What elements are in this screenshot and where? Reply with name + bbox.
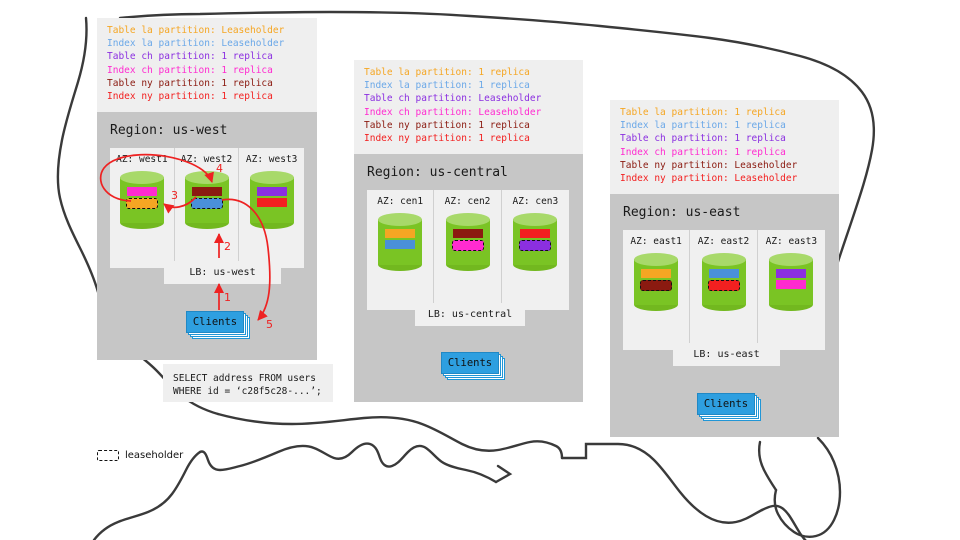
load-balancer-us-central[interactable]: LB: us-central (415, 303, 525, 326)
replica-bar (127, 187, 157, 196)
replica-bars (513, 229, 557, 251)
replica-bar (709, 269, 739, 278)
az-cell-cen2[interactable]: AZ: cen2 (434, 190, 501, 310)
replica-bar (257, 187, 287, 196)
replica-bars (120, 187, 164, 209)
partition-legend-us-east: Table la partition: 1 replica Index la p… (610, 100, 839, 194)
legend-line: Table ny partition: Leaseholder (620, 159, 831, 172)
load-balancer-us-east[interactable]: LB: us-east (673, 343, 780, 366)
az-label: AZ: east3 (766, 236, 817, 247)
az-label: AZ: cen2 (445, 196, 491, 207)
replica-bars (769, 269, 813, 289)
replica-bars (250, 187, 294, 207)
leaseholder-legend-label: leaseholder (125, 450, 183, 461)
cylinder-top (378, 213, 422, 226)
leaseholder-legend-key: leaseholder (97, 450, 183, 461)
legend-line: Index la partition: 1 replica (364, 79, 575, 92)
az-cell-west1[interactable]: AZ: west1 (110, 148, 175, 268)
replica-bars (634, 269, 678, 291)
cylinder-top (446, 213, 490, 226)
az-cell-west3[interactable]: AZ: west3 (239, 148, 304, 268)
legend-line: Index la partition: 1 replica (620, 119, 831, 132)
replica-bars (378, 229, 422, 249)
az-row-us-east: AZ: east1 AZ: east2 (623, 230, 825, 350)
partition-legend-us-west: Table la partition: Leaseholder Index la… (97, 18, 317, 112)
az-row-us-west: AZ: west1 AZ: west2 (110, 148, 304, 268)
region-title: Region: us-west (97, 112, 317, 138)
legend-line: Index ny partition: 1 replica (107, 90, 309, 103)
replica-bar (776, 280, 806, 289)
dashed-rect-icon (97, 450, 119, 461)
replica-bar (257, 198, 287, 207)
az-label: AZ: cen1 (377, 196, 423, 207)
region-cluster-us-west: Table la partition: Leaseholder Index la… (97, 18, 317, 360)
replica-bar (385, 240, 415, 249)
replica-bars (446, 229, 490, 251)
legend-line: Table la partition: 1 replica (620, 106, 831, 119)
region-cluster-us-central: Table la partition: 1 replica Index la p… (354, 60, 583, 402)
replica-bars (702, 269, 746, 291)
arrow-step-3-label: 3 (171, 189, 178, 202)
legend-line: Index ch partition: 1 replica (620, 146, 831, 159)
az-cell-east1[interactable]: AZ: east1 (623, 230, 690, 350)
replica-bar (453, 229, 483, 238)
replica-bar (385, 229, 415, 238)
arrow-step-4-label: 4 (216, 162, 223, 175)
az-cell-east2[interactable]: AZ: east2 (690, 230, 757, 350)
region-cluster-us-east: Table la partition: 1 replica Index la p… (610, 100, 839, 437)
clients-label[interactable]: Clients (186, 311, 244, 333)
legend-line: Index ch partition: 1 replica (107, 64, 309, 77)
node-cylinder-west1[interactable] (120, 171, 164, 229)
replica-bar-leaseholder (640, 280, 672, 291)
clients-us-west[interactable]: Clients (186, 311, 252, 340)
partition-legend-us-central: Table la partition: 1 replica Index la p… (354, 60, 583, 154)
replica-bar-leaseholder (191, 198, 223, 209)
az-label: AZ: east2 (698, 236, 749, 247)
region-title: Region: us-central (354, 154, 583, 180)
clients-us-east[interactable]: Clients (697, 393, 763, 422)
node-cylinder-east1[interactable] (634, 253, 678, 311)
az-label: AZ: west3 (246, 154, 297, 165)
node-cylinder-east3[interactable] (769, 253, 813, 311)
sql-query-box: SELECT address FROM users WHERE id = ‘c2… (163, 364, 333, 402)
replica-bar (776, 269, 806, 278)
clients-label[interactable]: Clients (441, 352, 499, 374)
az-row-us-central: AZ: cen1 AZ: cen2 (367, 190, 569, 310)
az-label: AZ: cen3 (512, 196, 558, 207)
node-cylinder-cen1[interactable] (378, 213, 422, 271)
replica-bar (192, 187, 222, 196)
replica-bar-leaseholder (126, 198, 158, 209)
legend-line: Table la partition: Leaseholder (107, 24, 309, 37)
az-label: AZ: east1 (630, 236, 681, 247)
region-title: Region: us-east (610, 194, 839, 220)
cylinder-top (702, 253, 746, 266)
az-cell-cen1[interactable]: AZ: cen1 (367, 190, 434, 310)
node-cylinder-west3[interactable] (250, 171, 294, 229)
legend-line: Index ny partition: 1 replica (364, 132, 575, 145)
arrow-step-2-label: 2 (224, 240, 231, 253)
replica-bar-leaseholder (708, 280, 740, 291)
replica-bar (641, 269, 671, 278)
node-cylinder-cen2[interactable] (446, 213, 490, 271)
az-label: AZ: west2 (181, 154, 232, 165)
az-cell-east3[interactable]: AZ: east3 (758, 230, 825, 350)
clients-us-central[interactable]: Clients (441, 352, 507, 381)
legend-line: Table ch partition: 1 replica (620, 132, 831, 145)
legend-line: Index ch partition: Leaseholder (364, 106, 575, 119)
cylinder-top (634, 253, 678, 266)
legend-line: Table ny partition: 1 replica (107, 77, 309, 90)
replica-bars (185, 187, 229, 209)
legend-line: Table ny partition: 1 replica (364, 119, 575, 132)
node-cylinder-cen3[interactable] (513, 213, 557, 271)
diagram-canvas: Table la partition: Leaseholder Index la… (0, 0, 960, 540)
cylinder-top (250, 171, 294, 184)
node-cylinder-east2[interactable] (702, 253, 746, 311)
cylinder-top (120, 171, 164, 184)
az-cell-cen3[interactable]: AZ: cen3 (502, 190, 569, 310)
replica-bar (520, 229, 550, 238)
legend-line: Table ch partition: Leaseholder (364, 92, 575, 105)
clients-label[interactable]: Clients (697, 393, 755, 415)
legend-line: Table la partition: 1 replica (364, 66, 575, 79)
replica-bar-leaseholder (452, 240, 484, 251)
load-balancer-us-west[interactable]: LB: us-west (164, 261, 281, 284)
legend-line: Table ch partition: 1 replica (107, 50, 309, 63)
az-label: AZ: west1 (116, 154, 167, 165)
replica-bar-leaseholder (519, 240, 551, 251)
legend-line: Index ny partition: Leaseholder (620, 172, 831, 185)
arrow-step-5-label: 5 (266, 318, 273, 331)
arrow-step-1-label: 1 (224, 291, 231, 304)
legend-line: Index la partition: Leaseholder (107, 37, 309, 50)
node-cylinder-west2[interactable] (185, 171, 229, 229)
